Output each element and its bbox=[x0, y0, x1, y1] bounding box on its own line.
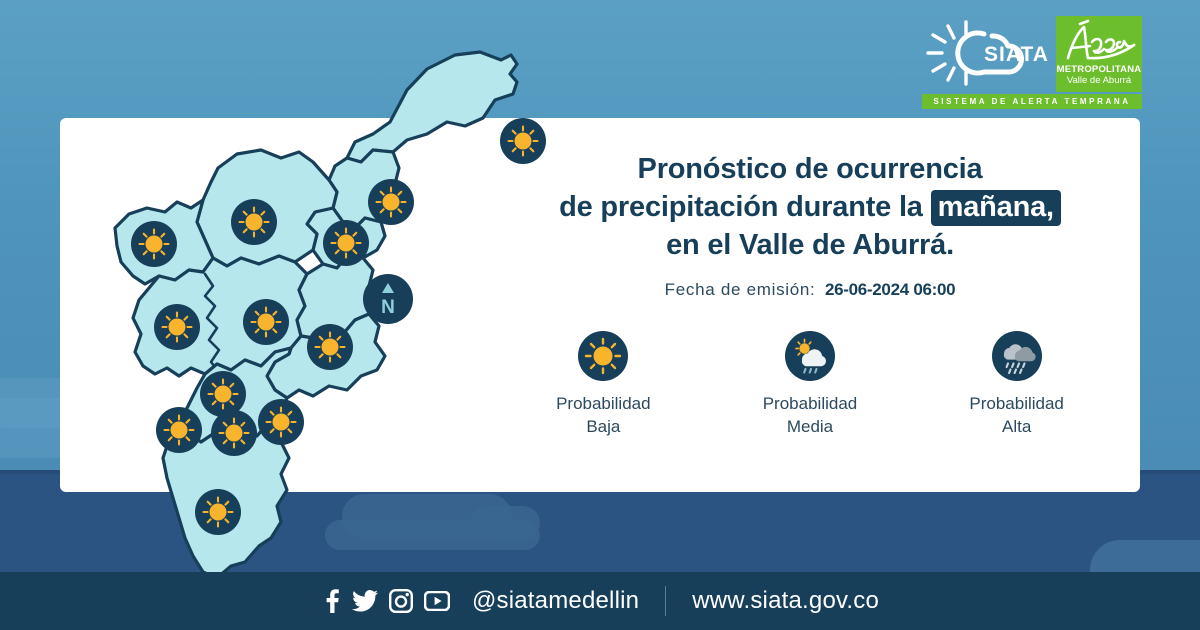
title-highlight-periodo: mañana, bbox=[931, 190, 1061, 226]
siata-wordmark: SIATA bbox=[984, 43, 1049, 66]
infographic-root: N Pronóstico de ocurrencia de precipitac… bbox=[0, 0, 1200, 630]
map-marker-sun[interactable] bbox=[230, 198, 278, 246]
title-line-3: en el Valle de Aburrá. bbox=[500, 226, 1120, 264]
sun-rain-icon bbox=[784, 330, 836, 382]
compass-rose: N bbox=[362, 273, 414, 325]
instagram-icon[interactable] bbox=[389, 589, 413, 613]
map-marker-sun[interactable] bbox=[130, 220, 178, 268]
legend-label-media-line2: Media bbox=[720, 415, 900, 438]
legend-label-media: Probabilidad Media bbox=[720, 392, 900, 438]
compass-label: N bbox=[381, 297, 395, 318]
title-line-1: Pronóstico de ocurrencia bbox=[500, 150, 1120, 188]
legend-label-alta-line2: Alta bbox=[927, 415, 1107, 438]
twitter-icon[interactable] bbox=[352, 590, 378, 612]
area-metropolitana-logo: METROPOLITANA Valle de Aburrá bbox=[1056, 16, 1142, 92]
legend-label-alta-line1: Probabilidad bbox=[927, 392, 1107, 415]
issue-date-label: Fecha de emisión: bbox=[665, 280, 816, 299]
cloud-rain-icon bbox=[991, 330, 1043, 382]
siata-tagline: SISTEMA DE ALERTA TEMPRANA bbox=[922, 94, 1142, 109]
map-marker-sun[interactable] bbox=[322, 219, 370, 267]
area-script-mark bbox=[1060, 18, 1138, 64]
valle-de-aburra-map: N bbox=[55, 22, 555, 582]
website-url[interactable]: www.siata.gov.co bbox=[692, 587, 879, 615]
map-marker-sun[interactable] bbox=[242, 298, 290, 346]
title-line-2-text: de precipitación durante la bbox=[559, 191, 923, 223]
area-logo-line2: Valle de Aburrá bbox=[1067, 75, 1131, 86]
issue-date-value: 26-06-2024 06:00 bbox=[825, 280, 955, 299]
legend-label-media-line1: Probabilidad bbox=[720, 392, 900, 415]
siata-logo: SIATA bbox=[922, 16, 1050, 90]
map-marker-sun[interactable] bbox=[210, 409, 258, 457]
map-marker-sun[interactable] bbox=[306, 323, 354, 371]
legend-label-baja-line2: Baja bbox=[513, 415, 693, 438]
legend-item-baja: Probabilidad Baja bbox=[513, 330, 693, 438]
legend-item-media: Probabilidad Media bbox=[720, 330, 900, 438]
footer-divider bbox=[665, 586, 666, 616]
map-marker-sun[interactable] bbox=[153, 303, 201, 351]
legend-item-alta: Probabilidad Alta bbox=[927, 330, 1107, 438]
footer-bar: @siatamedellin www.siata.gov.co bbox=[0, 572, 1200, 630]
page-title: Pronóstico de ocurrencia de precipitació… bbox=[500, 150, 1120, 264]
social-links bbox=[321, 589, 450, 613]
map-marker-sun[interactable] bbox=[194, 488, 242, 536]
map-marker-sun[interactable] bbox=[367, 178, 415, 226]
map-marker-sun[interactable] bbox=[257, 398, 305, 446]
issue-date-row: Fecha de emisión: 26-06-2024 06:00 bbox=[500, 280, 1120, 300]
sun-icon bbox=[577, 330, 629, 382]
facebook-icon[interactable] bbox=[321, 589, 341, 613]
logo-group: SIATA METROPOLITANA Valle de A bbox=[922, 16, 1142, 112]
siata-tagline-text: SISTEMA DE ALERTA TEMPRANA bbox=[933, 97, 1130, 106]
legend-label-baja-line1: Probabilidad bbox=[513, 392, 693, 415]
map-marker-sun[interactable] bbox=[155, 406, 203, 454]
probability-legend: Probabilidad Baja bbox=[500, 330, 1120, 438]
title-line-2: de precipitación durante la mañana, bbox=[500, 188, 1120, 226]
social-handle[interactable]: @siatamedellin bbox=[472, 587, 639, 615]
legend-label-baja: Probabilidad Baja bbox=[513, 392, 693, 438]
legend-label-alta: Probabilidad Alta bbox=[927, 392, 1107, 438]
youtube-icon[interactable] bbox=[424, 591, 450, 611]
area-logo-line1: METROPOLITANA bbox=[1057, 64, 1142, 75]
